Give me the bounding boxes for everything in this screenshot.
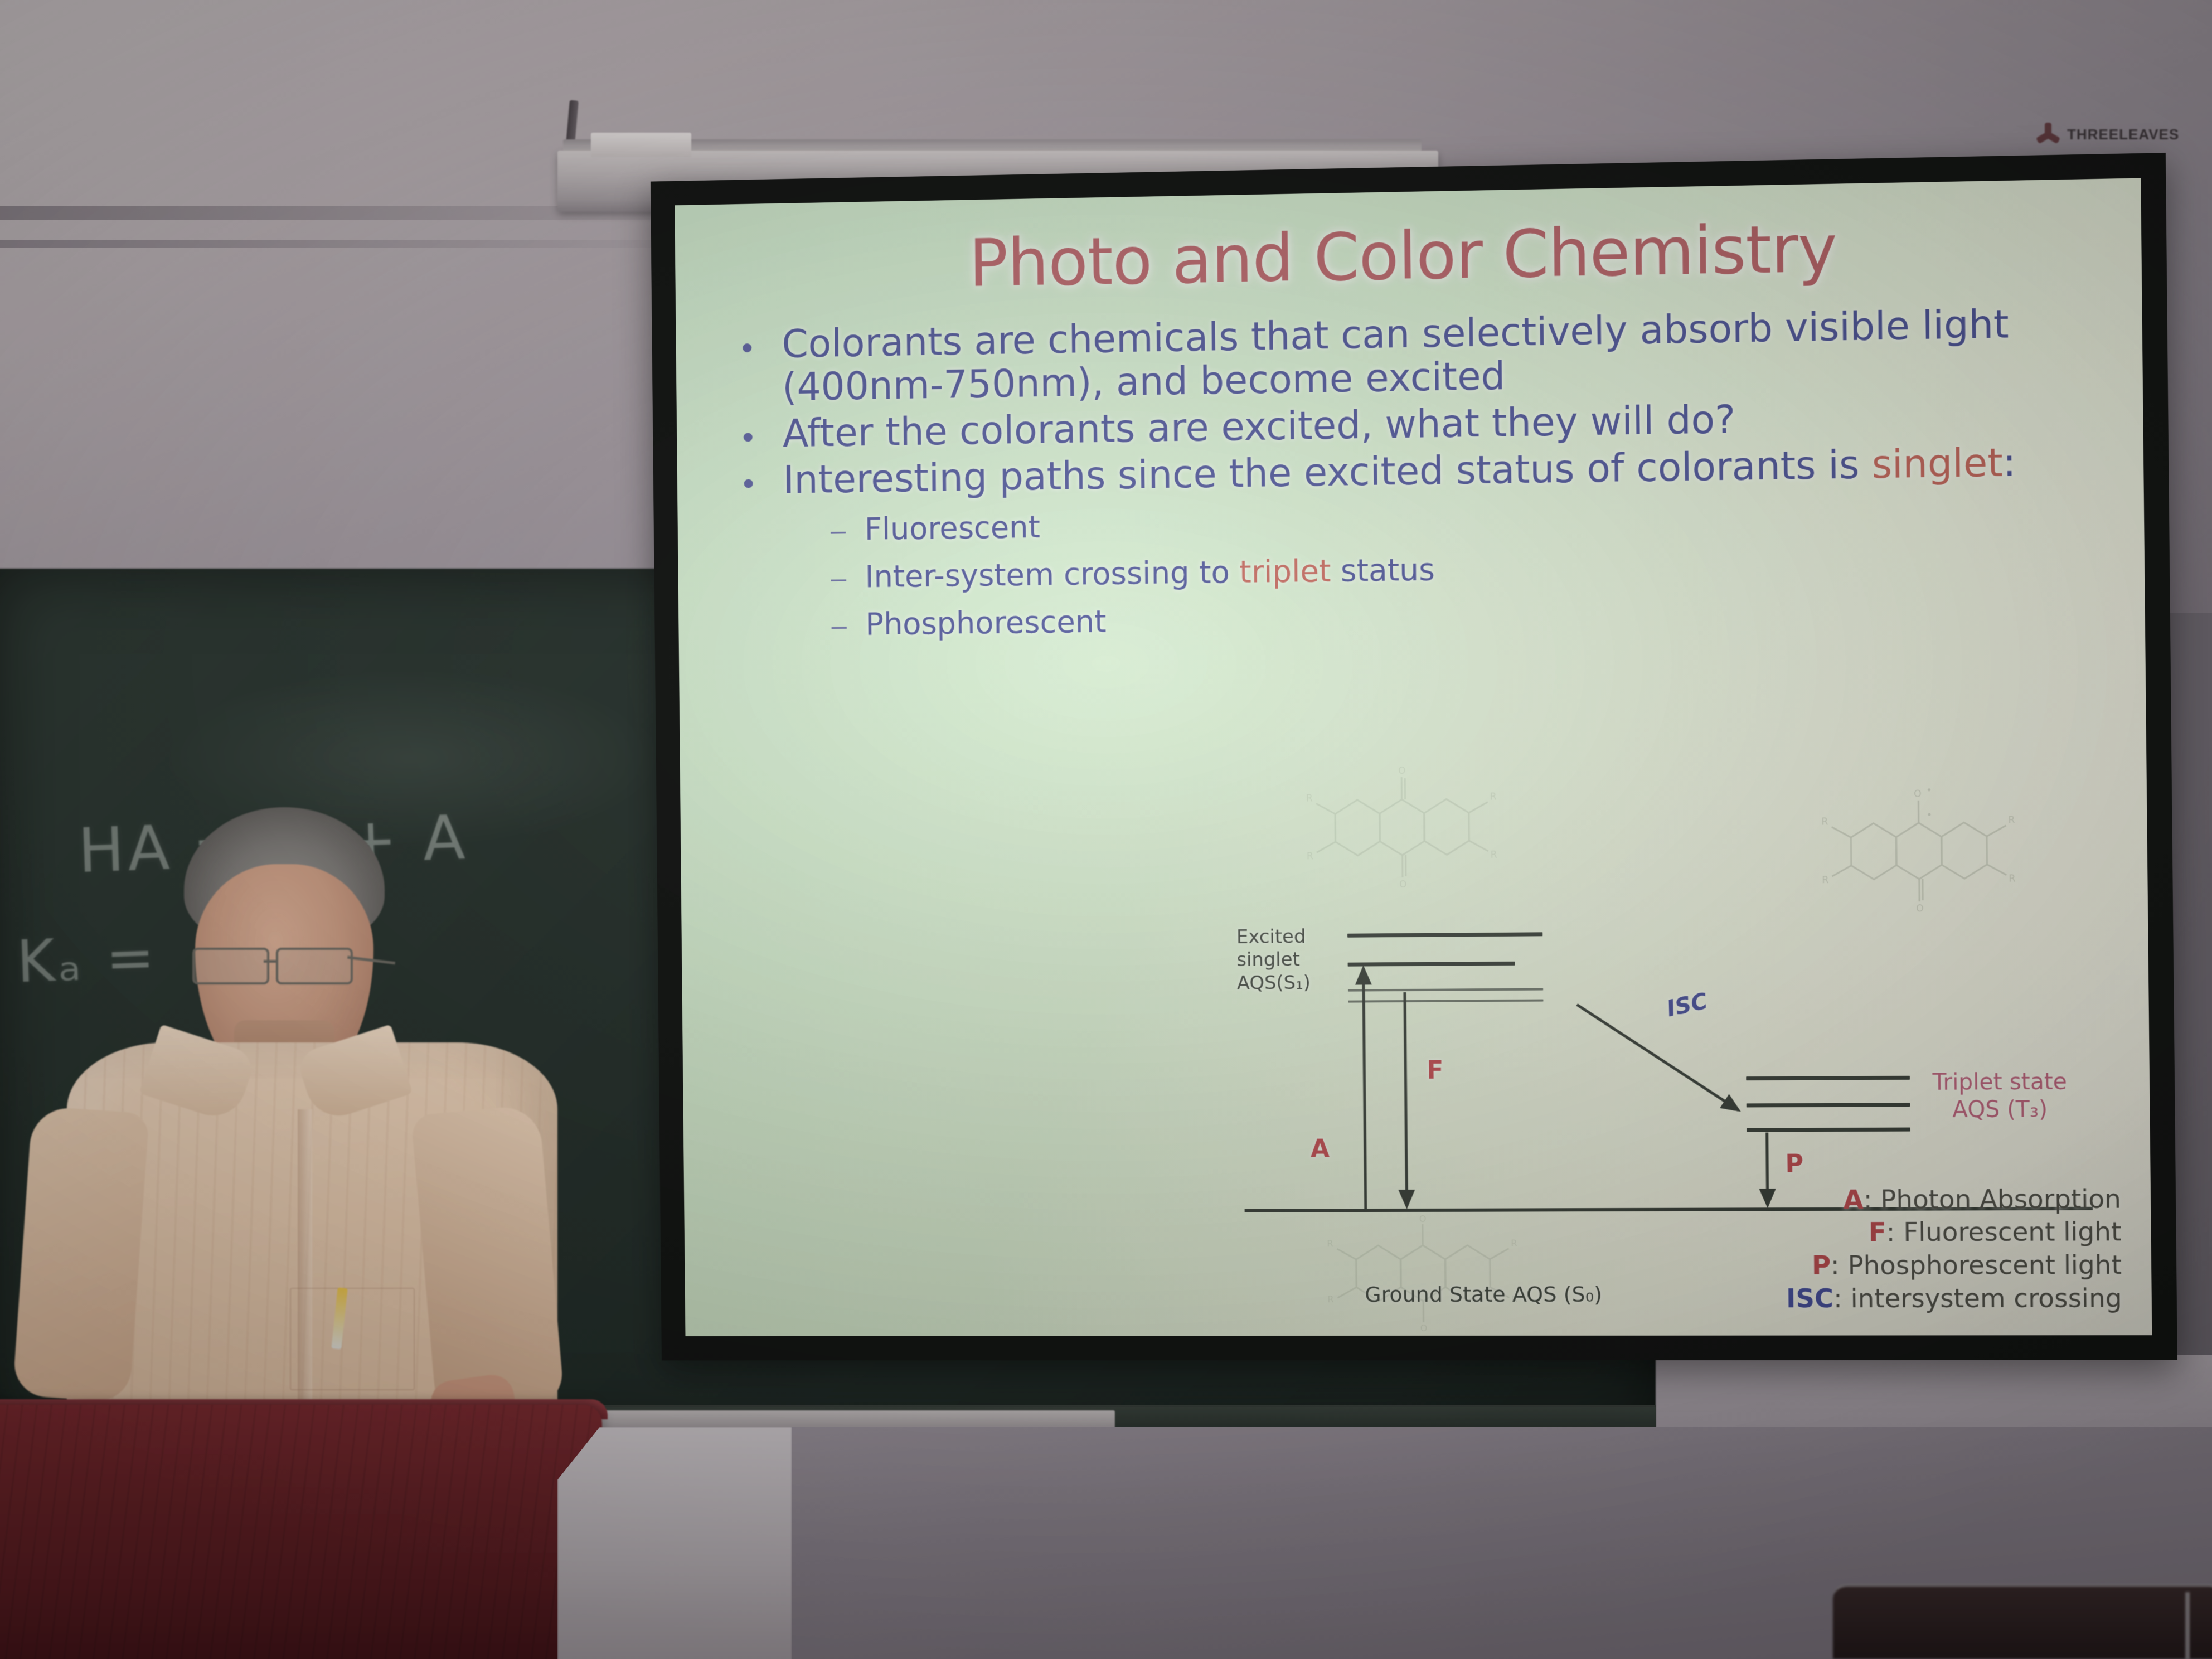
photo-scene: HA ⇌ H + A Kₐ = THREELEAVES Photo and Co…	[0, 0, 2212, 1659]
legend-row: A: Photon Absorption	[1785, 1182, 2121, 1216]
bullet-dot-icon: •	[741, 324, 782, 363]
diagram-legend: A: Photon Absorption F: Fluorescent ligh…	[1785, 1182, 2122, 1316]
dash-icon: –	[831, 609, 865, 642]
sub-bullet-item: – Fluorescent	[831, 494, 2076, 547]
legend-desc: : Photon Absorption	[1863, 1183, 2121, 1215]
slide-bullet-list: • Colorants are chemicals that can selec…	[741, 302, 2077, 655]
absorption-arrow-label: A	[1311, 1134, 1330, 1165]
brand-label: THREELEAVES	[2067, 126, 2179, 143]
bullet-text-post: :	[2002, 440, 2016, 486]
legend-desc: : Phosphorescent light	[1831, 1250, 2122, 1280]
bullet-accent-word: singlet	[1871, 440, 2003, 487]
glasses-temple	[347, 956, 395, 964]
chair-seam	[2185, 1592, 2190, 1659]
sub-bullet-item: – Inter-system crossing to triplet statu…	[831, 543, 2076, 594]
shirt-sleeve-left	[12, 1105, 149, 1403]
sub-bullet-item: – Phosphorescent	[831, 591, 2077, 642]
fluorescence-arrow-label: F	[1427, 1056, 1444, 1086]
screen-housing-lip	[563, 139, 1422, 152]
slide-surface: Photo and Color Chemistry • Colorants ar…	[675, 178, 2152, 1336]
bullet-dot-icon: •	[743, 459, 783, 498]
ground-state-label: Ground State AQS (S₀)	[1365, 1282, 1602, 1308]
legend-row: P: Phosphorescent light	[1786, 1249, 2122, 1282]
glasses-bridge	[264, 960, 278, 963]
sub-accent-word: triplet	[1239, 553, 1331, 590]
excited-singlet-label: Excited singlet AQS(S₁)	[1236, 925, 1311, 995]
trefoil-icon	[2035, 122, 2060, 147]
slide-title: Photo and Color Chemistry	[675, 204, 2142, 307]
shirt-pocket	[290, 1288, 415, 1390]
screen-white-border: Photo and Color Chemistry • Colorants ar…	[675, 178, 2152, 1336]
triplet-label-line2: AQS (T₃)	[1933, 1096, 2068, 1124]
podium-wood-grain	[0, 1405, 602, 1659]
podium	[0, 1405, 602, 1659]
bullet-text: Colorants are chemicals that can selecti…	[782, 302, 2074, 410]
speaker-glasses	[192, 948, 376, 981]
bullet-item: • Colorants are chemicals that can selec…	[741, 302, 2075, 410]
dash-icon: –	[831, 514, 865, 546]
phosphorescence-arrow-label: P	[1785, 1149, 1803, 1179]
shirt-sleeve-right	[411, 1104, 565, 1415]
sub-bullet-text: Phosphorescent	[865, 603, 1107, 642]
legend-row: F: Fluorescent light	[1786, 1215, 2122, 1249]
dash-icon: –	[831, 561, 865, 594]
legend-key: F	[1869, 1217, 1886, 1247]
wall-trim-band-2	[0, 240, 658, 248]
glasses-lens-left	[192, 948, 269, 984]
legend-desc: : Fluorescent light	[1886, 1216, 2121, 1247]
legend-desc: : intersystem crossing	[1833, 1283, 2122, 1313]
excited-label-line1: Excited	[1236, 925, 1311, 949]
lectern-side-panel	[557, 1427, 792, 1659]
triplet-label-line1: Triplet state	[1932, 1068, 2067, 1096]
legend-key: A	[1843, 1184, 1864, 1214]
excited-label-line2: singlet	[1236, 949, 1311, 972]
sub-text-post: status	[1331, 551, 1435, 588]
screen-housing-tab	[591, 133, 691, 157]
sub-bullet-text: Inter-system crossing to triplet status	[865, 551, 1435, 594]
sub-bullet-list: – Fluorescent – Inter-system crossing to…	[831, 494, 2077, 642]
legend-key: ISC	[1786, 1283, 1834, 1313]
glasses-lens-right	[276, 948, 353, 984]
triplet-state-label: Triplet state AQS (T₃)	[1932, 1068, 2067, 1124]
legend-row: ISC: intersystem crossing	[1786, 1282, 2122, 1315]
projection-screen: Photo and Color Chemistry • Colorants ar…	[651, 153, 2177, 1360]
chalk-tray	[535, 1410, 1115, 1429]
projector-brand-logo: THREELEAVES	[2035, 122, 2179, 147]
bullet-dot-icon: •	[742, 413, 783, 452]
sub-text-pre: Inter-system crossing to	[865, 554, 1239, 594]
chair-back	[1833, 1584, 2212, 1659]
sub-bullet-text: Fluorescent	[865, 509, 1041, 547]
legend-key: P	[1812, 1250, 1831, 1280]
excited-label-line3: AQS(S₁)	[1237, 972, 1311, 995]
